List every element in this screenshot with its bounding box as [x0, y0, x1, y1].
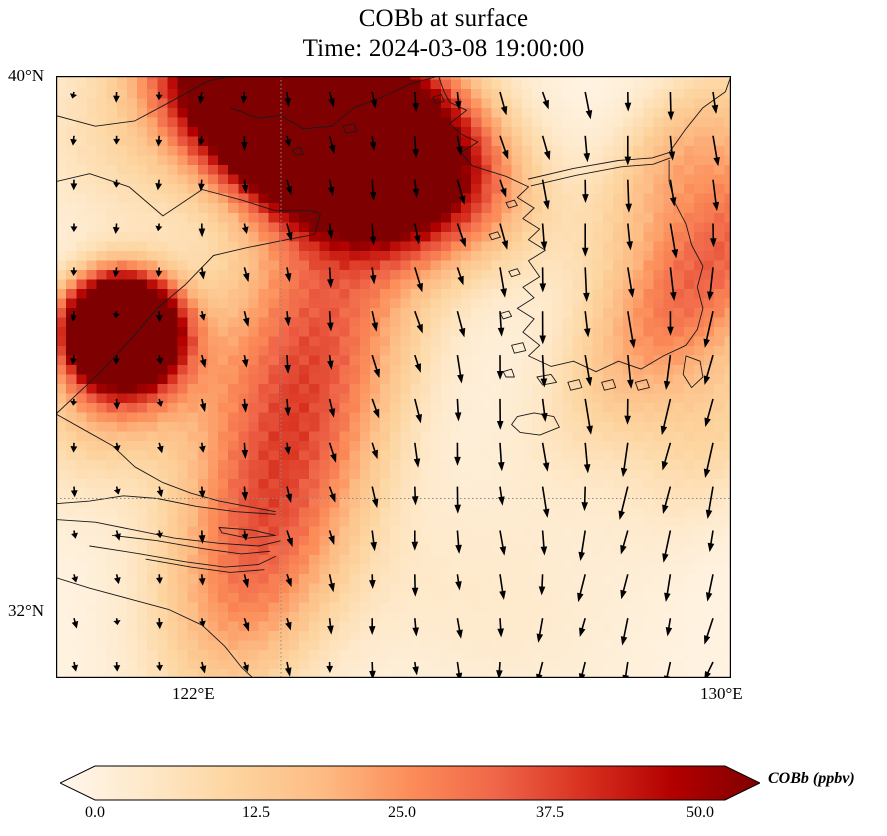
ytick-label-40N: 40°N	[8, 66, 44, 86]
xtick-label-122E: 122°E	[172, 684, 215, 704]
ytick-label-32N: 32°N	[8, 601, 44, 621]
colorbar-label: COBb (ppbv)	[768, 770, 855, 788]
colorbar-tick-0: 0.0	[85, 804, 105, 822]
title-line-time: Time: 2024-03-08 19:00:00	[0, 34, 887, 64]
figure-canvas: COBb at surface Time: 2024-03-08 19:00:0…	[0, 0, 887, 836]
colorbar-tick-3: 37.5	[536, 804, 564, 822]
colorbar-tick-4: 50.0	[686, 804, 714, 822]
xtick-label-130E: 130°E	[700, 684, 743, 704]
colorbar-gradient	[60, 766, 760, 800]
colorbar[interactable]	[60, 763, 760, 803]
colorbar-svg	[60, 763, 760, 803]
colorbar-tick-2: 25.0	[388, 804, 416, 822]
map-svg	[56, 76, 731, 678]
title-line-variable: COBb at surface	[0, 4, 887, 34]
figure-title: COBb at surface Time: 2024-03-08 19:00:0…	[0, 4, 887, 64]
colorbar-tick-1: 12.5	[242, 804, 270, 822]
map-plot-area[interactable]	[56, 76, 731, 678]
